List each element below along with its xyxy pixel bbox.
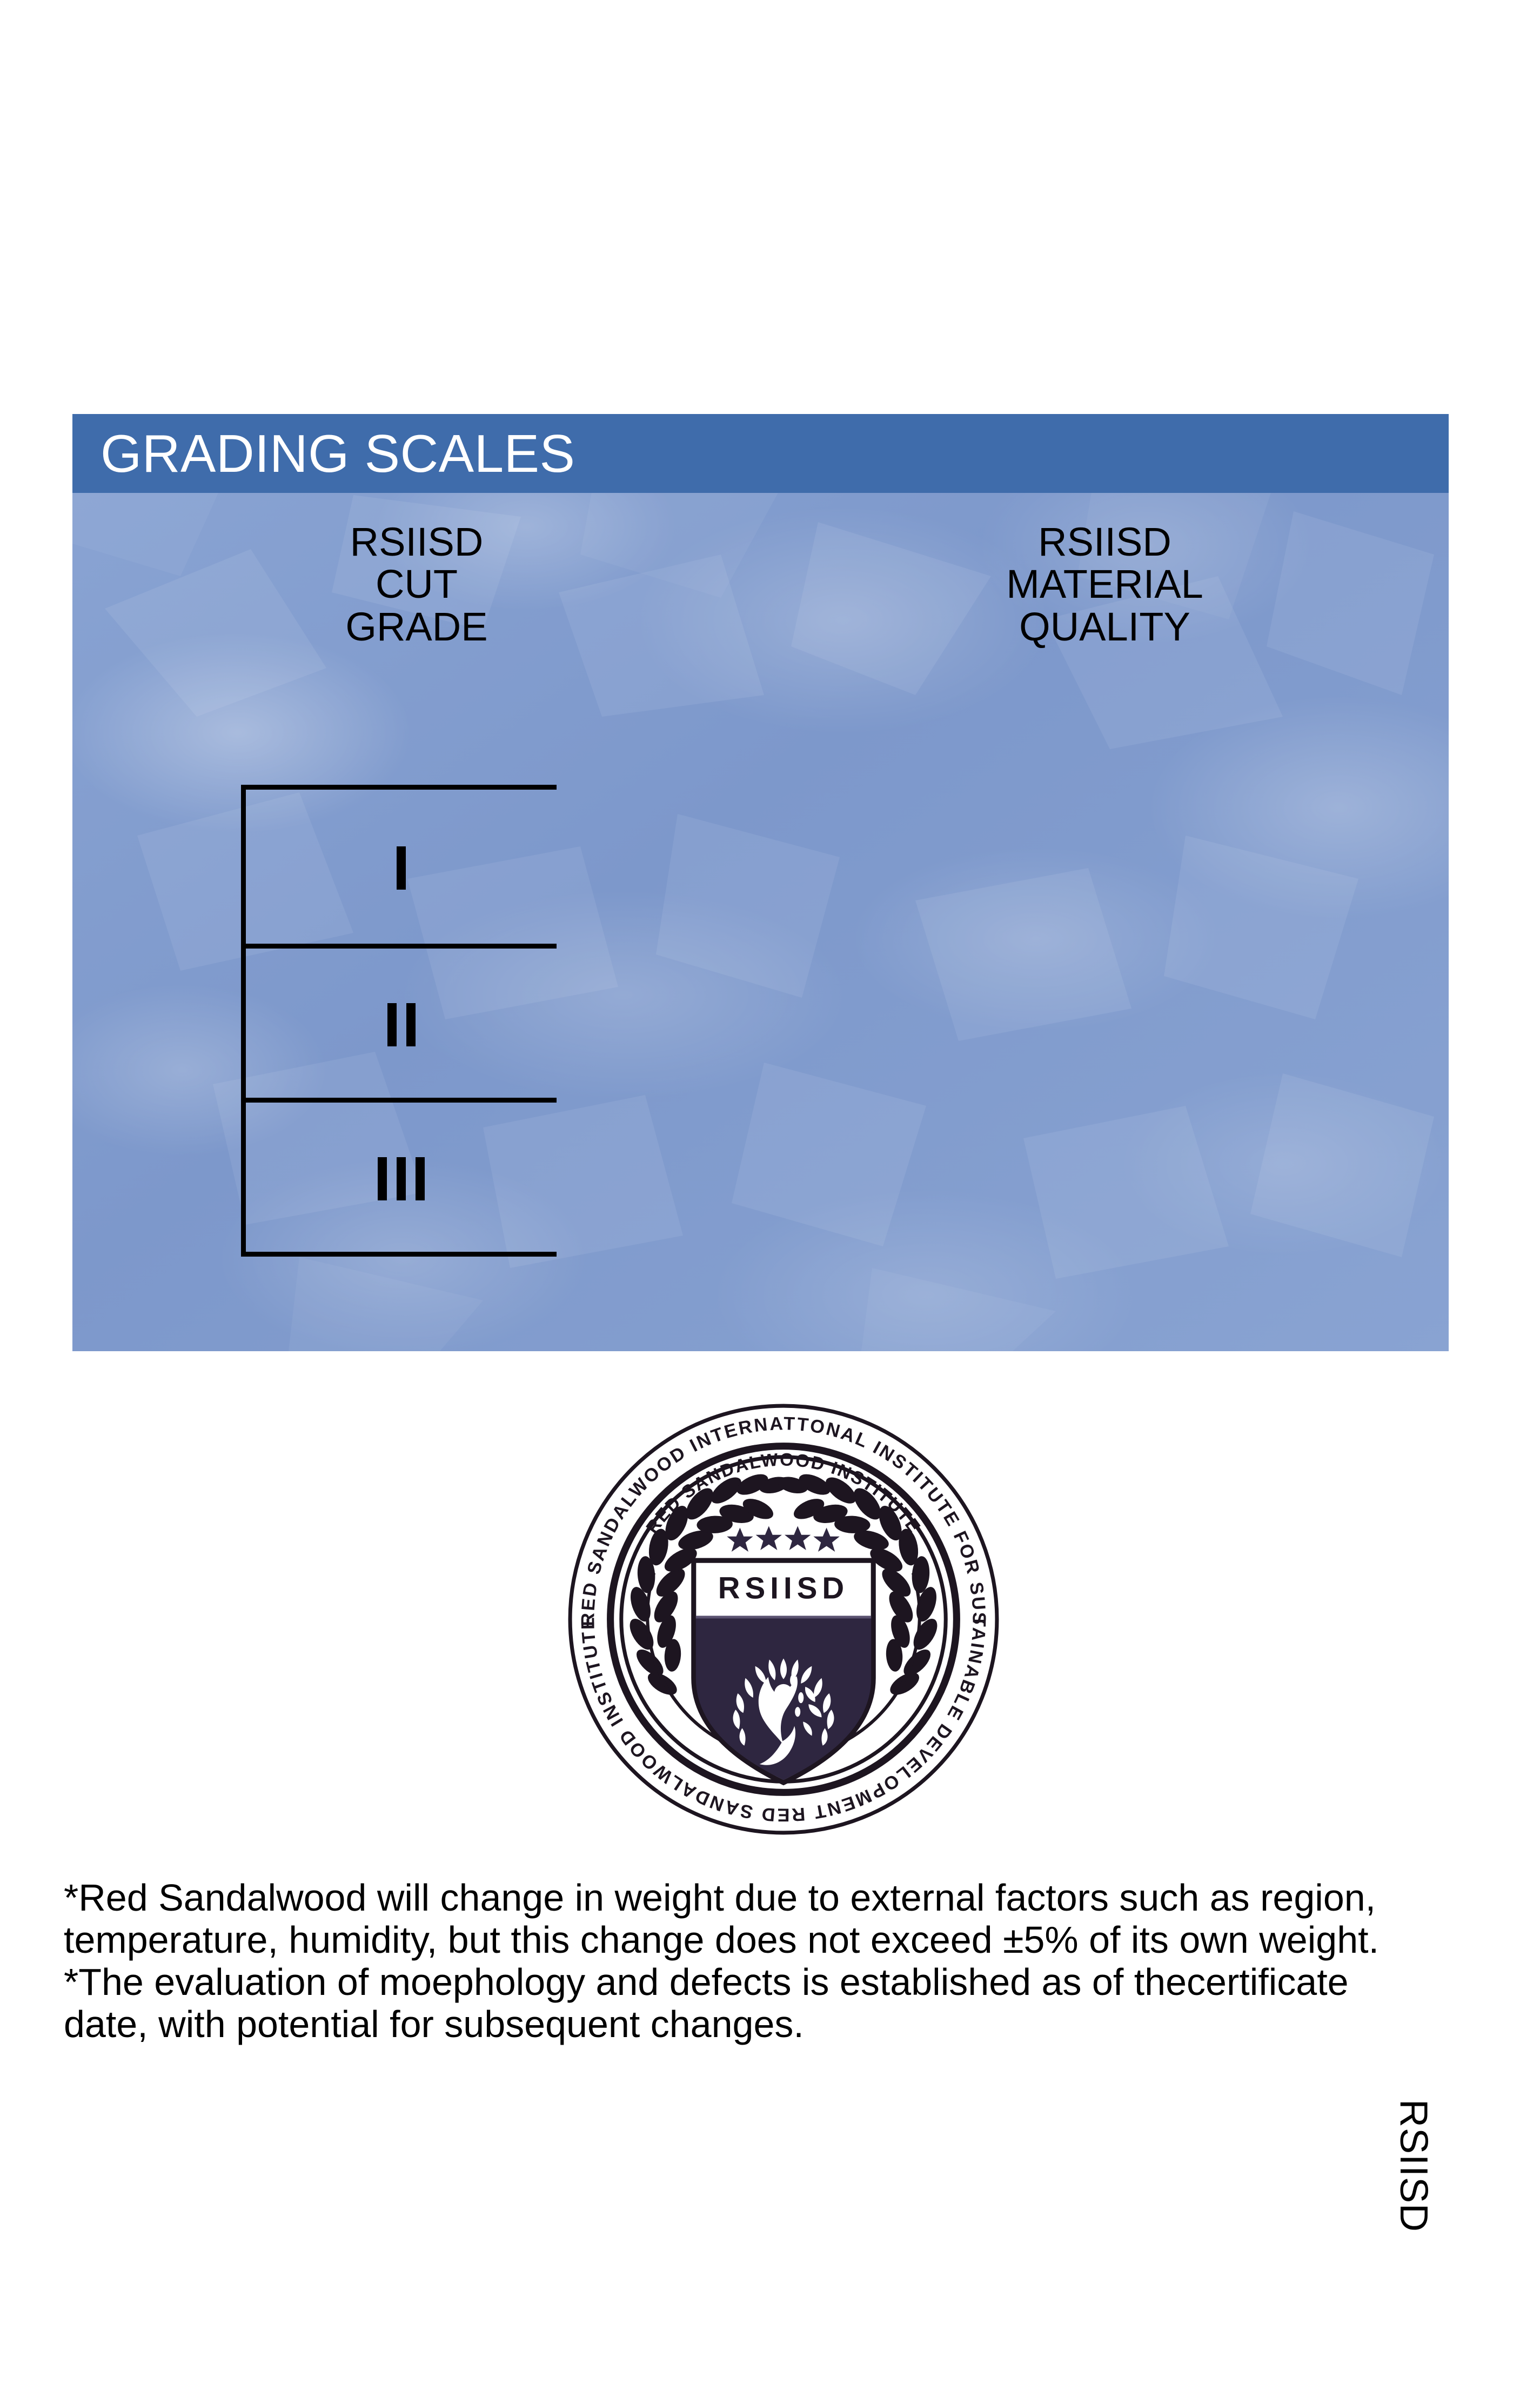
cut-grade-mark-3 [373,1150,430,1200]
side-mark-rsiisd: RSIISD [1394,2099,1433,2232]
panel-body: RSIISD CUT GRADE RSIISD MATERIAL [72,493,1449,1351]
material-heading-line-1: RSIISD [761,521,1449,563]
table-row [246,1098,557,1252]
rsiisd-seal: RED SANDALWOOD INTERNATTONAL INSTITUTE F… [566,1401,1001,1837]
cut-grade-mark-2 [383,996,420,1046]
footer-note-1: *Red Sandalwood will change in weight du… [64,1877,1436,1961]
cut-heading-line-3: GRADE [72,606,761,648]
seal-shield: RSIISD [694,1560,873,1783]
table-row [246,790,557,944]
seal-stars [727,1526,840,1552]
material-heading-line-3: QUALITY [761,606,1449,648]
shield-label: RSIISD [718,1571,849,1605]
cut-grade-heading: RSIISD CUT GRADE [72,521,761,648]
cut-heading-line-1: RSIISD [72,521,761,563]
star-icon [727,1527,753,1552]
star-icon [756,1526,782,1550]
page-title: GRADING SCALES [101,427,575,480]
material-quality-heading: RSIISD MATERIAL QUALITY [761,521,1449,648]
footer-notes: *Red Sandalwood will change in weight du… [64,1877,1436,2045]
star-icon [785,1526,811,1550]
material-heading-line-2: MATERIAL [761,563,1449,605]
footer-note-2: *The evaluation of moephology and defect… [64,1961,1436,2045]
cut-grade-table [241,785,557,1257]
table-row [246,944,557,1098]
cut-heading-line-2: CUT [72,563,761,605]
panel-header-bar: GRADING SCALES [72,414,1449,493]
star-icon [813,1527,839,1552]
cut-grade-mark-1 [392,839,411,890]
grading-scales-panel: GRADING SCALES RSIISD CUT GRADE [72,414,1449,1351]
